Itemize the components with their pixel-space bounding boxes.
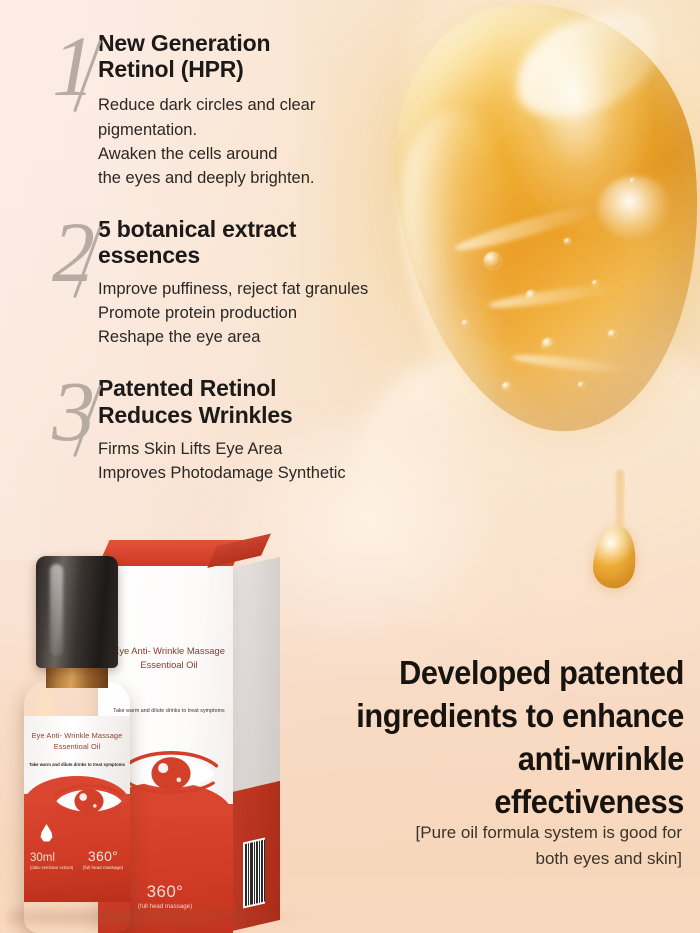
feature-list: 1 New Generation Retinol (HPR) Reduce da… <box>0 0 400 485</box>
serum-drip-strand <box>616 470 624 528</box>
feature-title-2: 5 botanical extract essences <box>98 216 400 268</box>
feature-number-3-value: 3 <box>52 363 93 459</box>
serum-bubble <box>526 290 536 300</box>
serum-bubble <box>484 252 501 269</box>
feature-number-2: 2 <box>52 216 93 290</box>
serum-bubble <box>608 330 616 338</box>
feature-description-2: Improve puffiness, reject fat granules P… <box>98 277 400 349</box>
barcode-icon <box>243 837 265 908</box>
feature-number-1: 1 <box>52 30 93 104</box>
feature-number-2-value: 2 <box>52 204 93 300</box>
serum-bubble <box>630 178 635 183</box>
serum-bubble <box>564 238 571 245</box>
bottle-volume-value: 30ml <box>30 852 82 864</box>
serum-bubble <box>542 338 554 350</box>
product-shadow <box>8 905 318 929</box>
bottle-rotation-badge: 360° (full head massage) <box>78 848 128 870</box>
eye-logo-icon <box>54 782 124 818</box>
serum-bubble <box>502 382 511 391</box>
bottle-product-name: Eye Anti- Wrinkle Massage Essentioal Oil <box>24 730 130 752</box>
serum-specular-highlight <box>598 176 672 240</box>
bottle-volume-badge: 30ml (daku sembawi extract) <box>30 852 82 870</box>
bottle-volume-caption: (daku sembawi extract) <box>30 865 82 870</box>
bottle-cap-highlight <box>50 564 63 656</box>
headline-subtitle: [Pure oil formula system is good for bot… <box>306 820 682 872</box>
eye-logo-icon <box>124 748 218 796</box>
feature-number-1-value: 1 <box>52 18 93 114</box>
feature-number-3: 3 <box>52 375 93 449</box>
bottle-rotation-caption: (full head massage) <box>78 865 128 870</box>
feature-title-1: New Generation Retinol (HPR) <box>98 30 400 82</box>
bottle-instruction: Take warm and dilute drinks to treat sym… <box>24 762 130 767</box>
feature-item-1: 1 New Generation Retinol (HPR) Reduce da… <box>0 30 400 190</box>
bottle-cap <box>36 556 118 668</box>
product-advertisement-page: 1 New Generation Retinol (HPR) Reduce da… <box>0 0 700 933</box>
serum-blob-image <box>392 0 700 460</box>
product-bottle: Eye Anti- Wrinkle Massage Essentioal Oil… <box>20 556 136 933</box>
feature-description-1: Reduce dark circles and clear pigmentati… <box>98 93 400 189</box>
feature-item-3: 3 Patented Retinol Reduces Wrinkles Firm… <box>0 375 400 485</box>
serum-bubble <box>578 382 584 388</box>
serum-bubble <box>592 280 598 286</box>
feature-description-3: Firms Skin Lifts Eye Area Improves Photo… <box>98 437 400 485</box>
feature-item-2: 2 5 botanical extract essences Improve p… <box>0 216 400 350</box>
bottle-rotation-value: 360° <box>78 848 128 864</box>
feature-title-3: Patented Retinol Reduces Wrinkles <box>98 375 400 427</box>
serum-bubble <box>462 320 468 326</box>
headline-main: Developed patented ingredients to enhanc… <box>325 652 684 824</box>
